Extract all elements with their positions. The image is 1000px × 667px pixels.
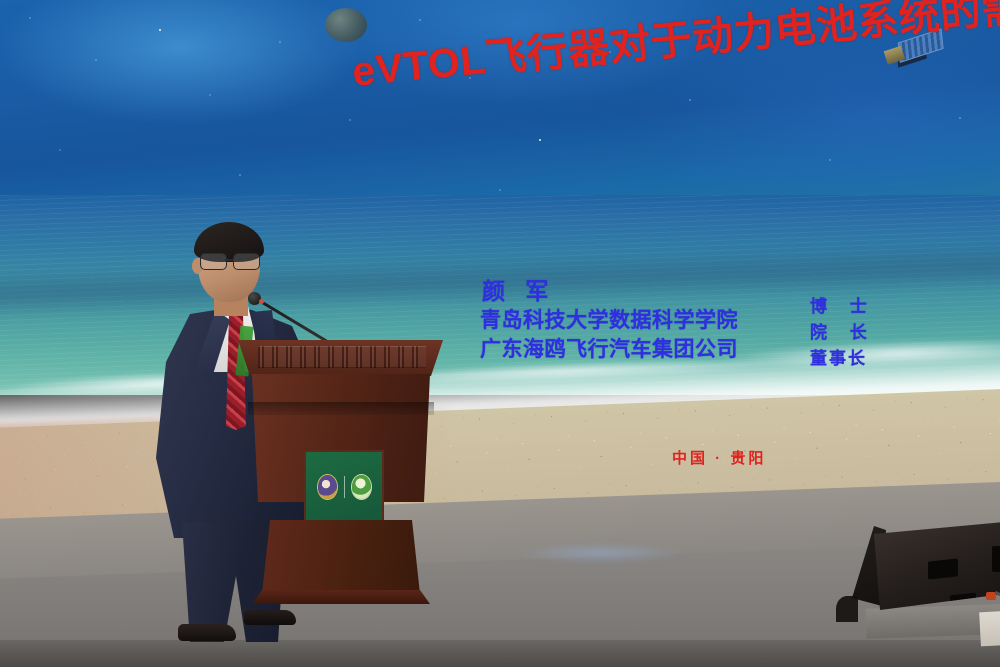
speaker-title-3: 董事长 <box>810 346 876 372</box>
speaker-titles-block: 博 士 院 长 董事长 <box>810 294 876 371</box>
emblem-left-icon <box>318 475 337 499</box>
monitor-white-panel <box>979 608 1000 647</box>
glasses-lens-left <box>200 253 227 270</box>
microphone-indicator <box>259 299 264 304</box>
emblem-right-icon <box>352 475 371 499</box>
glasses-bridge <box>225 259 233 261</box>
podium-shadow-band <box>248 402 434 415</box>
stage-floor-shadow <box>0 640 1000 667</box>
stage-monitor-speaker <box>852 512 1000 620</box>
speaker-info-block: 颜 军 青岛科技大学数据科学学院 广东海鸥飞行汽车集团公司 <box>480 278 738 363</box>
stage-corner-shadow <box>836 596 858 622</box>
speaker-affiliation-1: 青岛科技大学数据科学学院 <box>480 309 738 334</box>
speaker-title-1: 博 士 <box>810 294 876 320</box>
podium-emblems <box>306 470 382 504</box>
monitor-port-1 <box>928 558 958 579</box>
monitor-front-face <box>874 522 1000 610</box>
glasses-lens-right <box>233 253 260 270</box>
podium-top-panel <box>238 340 443 376</box>
glasses-icon <box>200 253 260 269</box>
wooden-podium <box>238 340 443 618</box>
stage-floor-light-reflection <box>510 545 690 561</box>
event-location: 中国 · 贵阳 <box>672 447 766 468</box>
podium-base <box>262 520 420 594</box>
speaker-title-2: 院 长 <box>810 320 876 346</box>
shoe-left <box>178 624 236 641</box>
presentation-photo: eVTOL飞行器对于动力电池系统的需求及应用 颜 军 青岛科技大学数据科学学院 … <box>0 0 1000 667</box>
emblem-divider <box>344 476 345 498</box>
monitor-port-2 <box>992 546 1000 572</box>
podium-carved-pattern <box>258 346 426 368</box>
podium-emblem-panel <box>304 450 384 526</box>
led-screen-backdrop: eVTOL飞行器对于动力电池系统的需求及应用 颜 军 青岛科技大学数据科学学院 … <box>0 0 1000 545</box>
speaker-affiliation-2: 广东海鸥飞行汽车集团公司 <box>480 338 738 363</box>
speaker-name: 颜 军 <box>482 278 738 305</box>
podium-foot <box>252 590 430 604</box>
